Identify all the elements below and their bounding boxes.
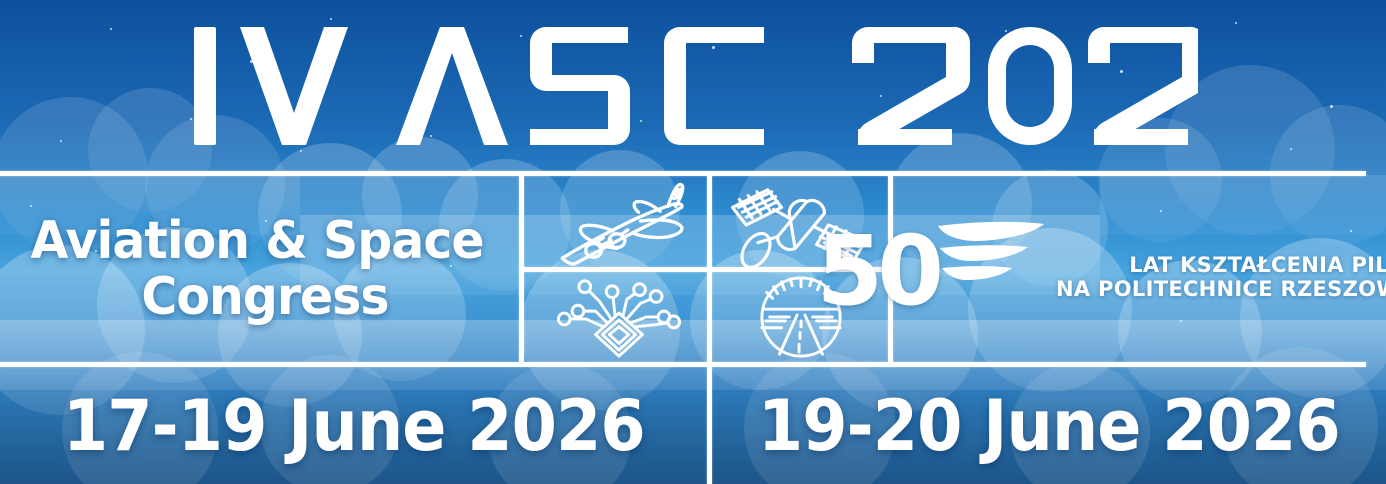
ai-chip-icon-cell (530, 274, 708, 360)
ai-chip-icon (530, 274, 708, 360)
congress-title-cell: Aviation & Space Congress (0, 176, 524, 362)
airplane-icon-cell (530, 180, 708, 268)
middle-row: Aviation & Space Congress (0, 176, 1386, 362)
anniversary-logo: 50 LAT KSZTAŁCENIA PILOTÓW NA POLITECHNI… (893, 176, 1386, 362)
date-left-text: 17-19 June 2026 (63, 391, 645, 461)
congress-line-2: Congress (141, 271, 388, 323)
anniversary-line-1: LAT KSZTAŁCENIA PILOTÓW (1056, 254, 1386, 278)
date-cell-right: 19-20 June 2026 (712, 367, 1386, 484)
banner-title-row (0, 0, 1386, 171)
date-cell-left: 17-19 June 2026 (0, 367, 707, 484)
anniversary-line-2: NA POLITECHNICE RZESZOWSKIEJ (1056, 278, 1386, 302)
date-right-text: 19-20 June 2026 (758, 391, 1340, 461)
wing-swoosh-icon (936, 220, 1046, 306)
title-lettering (188, 21, 1198, 151)
conference-banner: IV ASC 2026 Aviation & Space Congress (0, 0, 1386, 484)
dates-row: 17-19 June 2026 19-20 June 2026 (0, 367, 1386, 484)
airplane-icon (530, 180, 708, 268)
anniversary-number: 50 (816, 228, 938, 314)
page-title (188, 21, 1198, 151)
congress-line-1: Aviation & Space (30, 215, 483, 267)
